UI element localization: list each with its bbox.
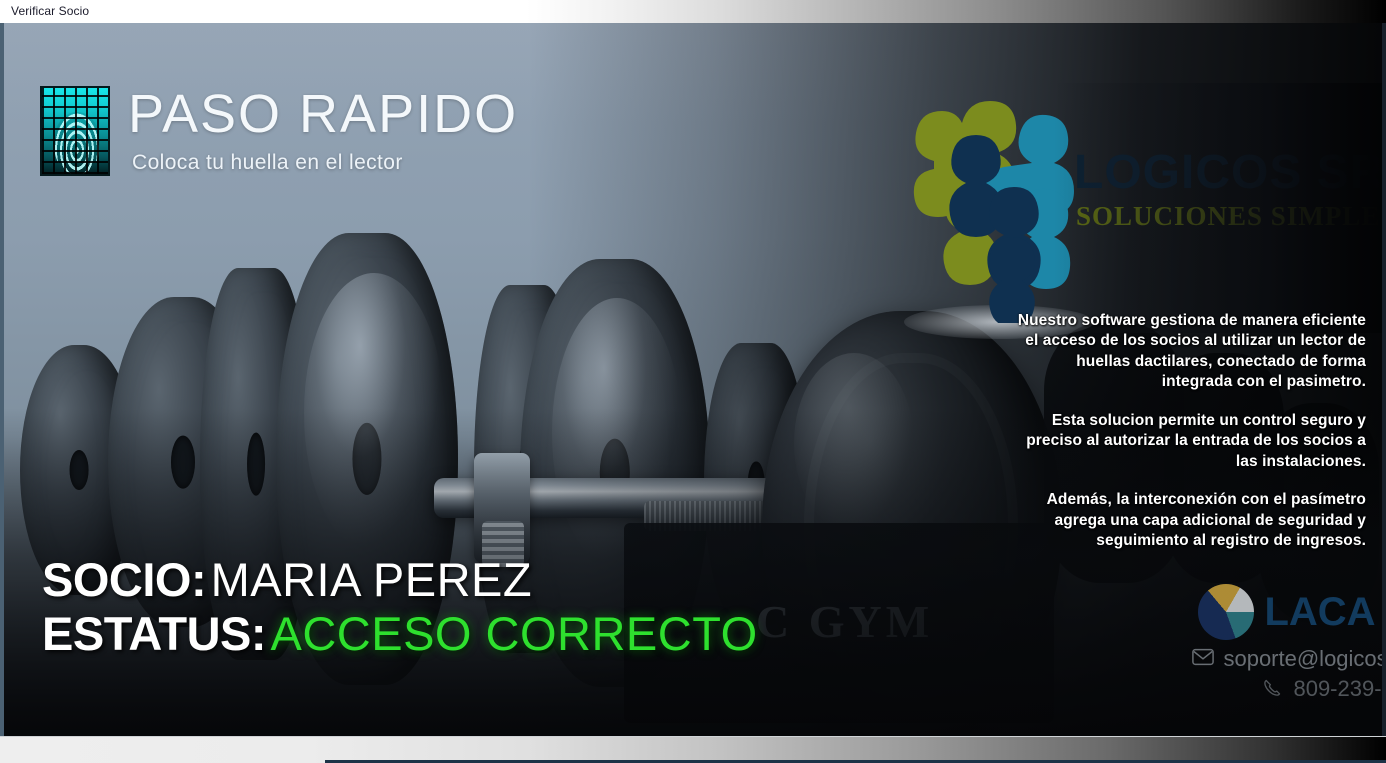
contact-block: LACA soporte@logicossrl.c 809-239- xyxy=(1170,584,1386,702)
logo-wordmark: LOGICOS SRL xyxy=(1074,145,1386,200)
window-title-text: Verificar Socio xyxy=(11,4,89,18)
verificar-socio-window: Verificar Socio C GYM xyxy=(0,0,1386,763)
description-panel: Nuestro software gestiona de manera efic… xyxy=(1002,311,1366,570)
page-title: PASO RAPIDO xyxy=(128,83,518,145)
contact-logo: LACA xyxy=(1170,584,1386,640)
contact-brand-name: LACA xyxy=(1264,590,1375,635)
app-header: PASO RAPIDO Coloca tu huella en el lecto… xyxy=(4,23,1382,143)
description-paragraph: Además, la interconexión con el pasímetr… xyxy=(1002,490,1366,551)
envelope-icon xyxy=(1192,648,1214,670)
contact-email-text: soporte@logicossrl.c xyxy=(1223,646,1386,672)
contact-phone-text: 809-239- xyxy=(1293,676,1381,702)
fingerprint-scanner-icon xyxy=(40,86,110,176)
description-paragraph: Nuestro software gestiona de manera efic… xyxy=(1002,311,1366,393)
member-name: MARIA PEREZ xyxy=(211,553,533,606)
description-paragraph: Esta solucion permite un control seguro … xyxy=(1002,411,1366,472)
status-label: ESTATUS: xyxy=(42,607,266,660)
member-label: SOCIO: xyxy=(42,553,206,606)
member-access-status-line: ESTATUS: ACCESO CORRECTO xyxy=(42,610,758,658)
client-area: C GYM PASO RAPIDO Coloca tu huella en el… xyxy=(0,23,1386,736)
logo-tagline: SOLUCIONES SIMPLES xyxy=(1076,201,1386,232)
contact-email-row[interactable]: soporte@logicossrl.c xyxy=(1170,646,1386,672)
page-subtitle: Coloca tu huella en el lector xyxy=(132,151,403,175)
fingerprint-grid-overlay xyxy=(42,88,108,174)
window-status-bar xyxy=(0,736,1386,763)
member-status-block: SOCIO: MARIA PEREZ ESTATUS: ACCESO CORRE… xyxy=(42,556,758,664)
laca-badge-icon xyxy=(1198,584,1254,640)
phone-handset-icon xyxy=(1262,678,1284,700)
member-name-line: SOCIO: MARIA PEREZ xyxy=(42,556,758,604)
contact-phone-row[interactable]: 809-239- xyxy=(1170,676,1386,702)
window-title-bar[interactable]: Verificar Socio xyxy=(0,0,1386,23)
status-badge: ACCESO CORRECTO xyxy=(270,607,757,660)
